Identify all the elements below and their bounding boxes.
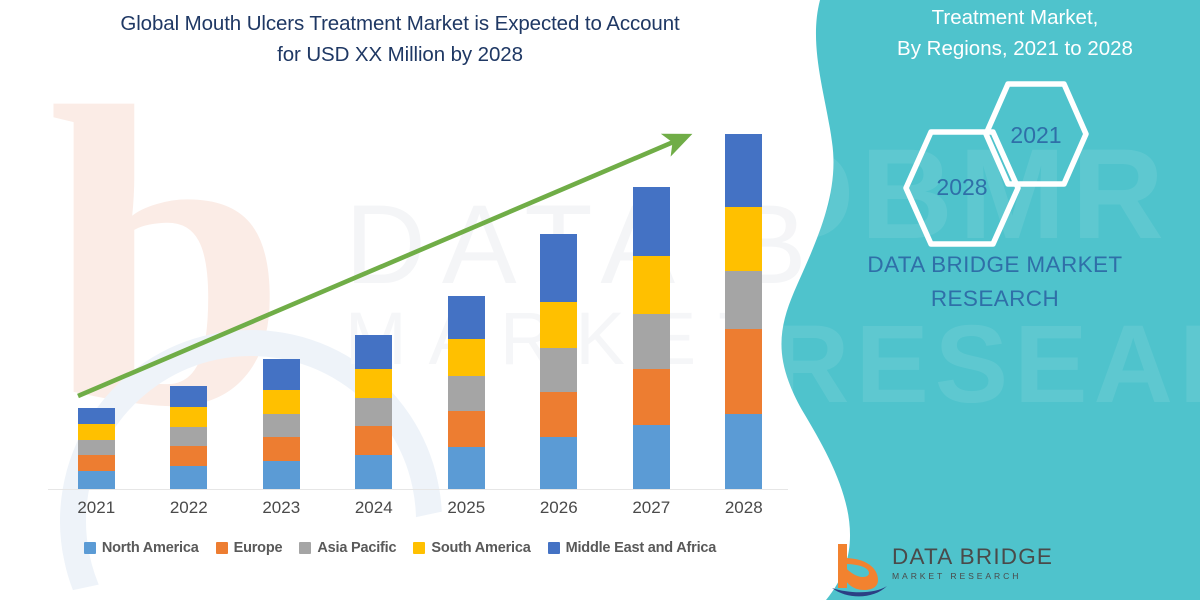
chart-legend: North AmericaEuropeAsia PacificSouth Ame…	[0, 540, 800, 556]
bar-segment-europe	[263, 437, 300, 461]
footer-logo-name: DATA BRIDGE	[892, 544, 1172, 570]
legend-item-north-america[interactable]: North America	[84, 540, 199, 556]
page-title: Global Mouth Ulcers Treatment Market is …	[0, 8, 800, 70]
bar-segment-north-america	[540, 437, 577, 489]
bar-segment-europe	[448, 411, 485, 447]
bar-2028	[725, 134, 762, 489]
bar-segment-middle-east-and-africa	[540, 234, 577, 302]
x-axis-label-2026: 2026	[519, 498, 599, 518]
bar-segment-asia-pacific	[263, 414, 300, 437]
bar-segment-south-america	[263, 390, 300, 414]
bar-segment-middle-east-and-africa	[78, 408, 115, 424]
brand-name-line-1: DATA BRIDGE MARKET	[800, 248, 1190, 282]
x-axis-label-2024: 2024	[334, 498, 414, 518]
bar-segment-europe	[78, 455, 115, 471]
bar-2026	[540, 234, 577, 489]
legend-item-europe[interactable]: Europe	[216, 540, 283, 556]
data-bridge-b-icon	[830, 542, 888, 598]
chart-panel: b DATA BRIDGE MARKET RESEARCH Global Mou…	[0, 0, 840, 600]
legend-swatch-icon	[548, 542, 560, 554]
panel-title-line-2: By Regions, 2021 to 2028	[840, 33, 1190, 64]
footer-logo-tagline: MARKET RESEARCH	[892, 571, 1172, 581]
bar-segment-south-america	[633, 256, 670, 314]
x-axis-label-2022: 2022	[149, 498, 229, 518]
x-axis-label-2021: 2021	[56, 498, 136, 518]
legend-item-south-america[interactable]: South America	[413, 540, 530, 556]
bar-segment-south-america	[725, 207, 762, 271]
panel-title: Treatment Market, By Regions, 2021 to 20…	[840, 2, 1190, 64]
footer-logo-text: DATA BRIDGE MARKET RESEARCH	[892, 544, 1172, 581]
bar-segment-north-america	[170, 466, 207, 489]
bar-segment-middle-east-and-africa	[448, 296, 485, 339]
brand-name-line-2: RESEARCH	[800, 282, 1190, 316]
legend-swatch-icon	[413, 542, 425, 554]
legend-label: Middle East and Africa	[566, 540, 717, 556]
bar-segment-europe	[540, 392, 577, 437]
page-title-line-1: Global Mouth Ulcers Treatment Market is …	[0, 8, 800, 39]
legend-swatch-icon	[84, 542, 96, 554]
x-axis-label-2027: 2027	[611, 498, 691, 518]
bar-2021	[78, 408, 115, 489]
axis-baseline	[48, 489, 788, 490]
bar-segment-middle-east-and-africa	[355, 335, 392, 369]
bar-segment-middle-east-and-africa	[263, 359, 300, 390]
infographic-root: b DATA BRIDGE MARKET RESEARCH Global Mou…	[0, 0, 1200, 600]
legend-swatch-icon	[216, 542, 228, 554]
bar-segment-south-america	[355, 369, 392, 398]
hexagon-2021-label: 2021	[980, 122, 1092, 149]
bar-segment-north-america	[78, 471, 115, 489]
bar-segment-europe	[633, 369, 670, 425]
bar-segment-south-america	[448, 339, 485, 376]
bar-segment-europe	[355, 426, 392, 455]
bar-segment-europe	[725, 329, 762, 414]
bar-segment-asia-pacific	[355, 398, 392, 426]
bar-segment-asia-pacific	[448, 376, 485, 411]
legend-label: South America	[431, 540, 530, 556]
bar-segment-asia-pacific	[725, 271, 762, 329]
bar-segment-asia-pacific	[540, 348, 577, 392]
bar-segment-asia-pacific	[170, 427, 207, 446]
x-axis-label-2028: 2028	[704, 498, 784, 518]
legend-label: Asia Pacific	[317, 540, 396, 556]
bar-segment-middle-east-and-africa	[633, 187, 670, 256]
bar-segment-asia-pacific	[78, 440, 115, 455]
page-title-line-2: for USD XX Million by 2028	[0, 39, 800, 70]
bar-segment-north-america	[263, 461, 300, 489]
legend-item-middle-east-and-africa[interactable]: Middle East and Africa	[548, 540, 717, 556]
bar-segment-europe	[170, 446, 207, 466]
legend-swatch-icon	[299, 542, 311, 554]
panel-title-line-1: Treatment Market,	[840, 2, 1190, 33]
legend-label: North America	[102, 540, 199, 556]
bar-segment-north-america	[633, 425, 670, 489]
bar-2023	[263, 359, 300, 489]
bar-segment-south-america	[540, 302, 577, 348]
bar-segment-north-america	[448, 447, 485, 489]
bar-2022	[170, 386, 207, 489]
brand-name: DATA BRIDGE MARKET RESEARCH	[800, 248, 1190, 316]
bar-segment-north-america	[355, 455, 392, 489]
bar-segment-north-america	[725, 414, 762, 489]
branding-content: DBMR RESEARCH Treatment Market, By Regio…	[780, 0, 1200, 600]
bar-2027	[633, 187, 670, 489]
legend-item-asia-pacific[interactable]: Asia Pacific	[299, 540, 396, 556]
bar-segment-south-america	[78, 424, 115, 440]
branding-panel: DBMR RESEARCH Treatment Market, By Regio…	[780, 0, 1200, 600]
x-axis-labels: 20212022202320242025202620272028	[48, 498, 788, 528]
hexagon-group: 2028 2021	[900, 96, 1130, 226]
legend-label: Europe	[234, 540, 283, 556]
stacked-bar-plot	[48, 100, 788, 490]
bar-2024	[355, 335, 392, 489]
bar-segment-middle-east-and-africa	[170, 386, 207, 407]
x-axis-label-2025: 2025	[426, 498, 506, 518]
bar-2025	[448, 296, 485, 489]
bar-segment-south-america	[170, 407, 207, 427]
x-axis-label-2023: 2023	[241, 498, 321, 518]
bar-segment-middle-east-and-africa	[725, 134, 762, 207]
bar-segment-asia-pacific	[633, 314, 670, 369]
footer-logo: DATA BRIDGE MARKET RESEARCH	[830, 540, 1170, 600]
